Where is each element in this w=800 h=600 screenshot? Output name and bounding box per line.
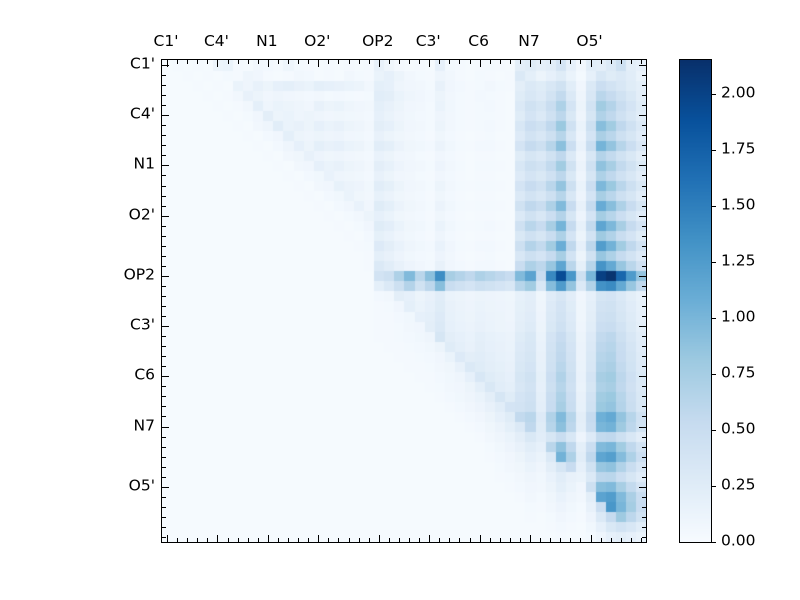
x-tick-top bbox=[540, 60, 541, 64]
colorbar-tick bbox=[711, 150, 716, 151]
y-tick-left bbox=[162, 396, 166, 397]
x-tick-top bbox=[530, 60, 531, 67]
y-tick-left bbox=[162, 125, 166, 126]
y-tick-left bbox=[162, 266, 166, 267]
x-tick-bottom bbox=[470, 538, 471, 542]
x-tick-top bbox=[268, 60, 269, 67]
y-tick-right bbox=[642, 75, 646, 76]
x-tick-label: C1' bbox=[154, 34, 179, 50]
x-tick-bottom bbox=[187, 538, 188, 542]
x-tick-bottom bbox=[197, 538, 198, 542]
y-tick-right bbox=[642, 437, 646, 438]
x-tick-top bbox=[520, 60, 521, 64]
y-tick-left bbox=[162, 447, 166, 448]
x-tick-bottom bbox=[550, 538, 551, 542]
x-tick-top bbox=[449, 60, 450, 64]
colorbar-tick-label: 1.00 bbox=[721, 309, 756, 325]
colorbar-tick-label: 0.25 bbox=[721, 477, 756, 493]
y-tick-left bbox=[162, 256, 166, 257]
y-tick-left bbox=[162, 467, 166, 468]
colorbar-tick-label: 1.25 bbox=[721, 253, 756, 269]
y-tick-left bbox=[162, 427, 169, 428]
colorbar-tick bbox=[711, 262, 716, 263]
colorbar-tick bbox=[711, 430, 716, 431]
y-tick-left bbox=[162, 356, 166, 357]
y-tick-right bbox=[642, 366, 646, 367]
y-tick-label: O2' bbox=[129, 207, 155, 223]
x-tick-top bbox=[621, 60, 622, 64]
x-tick-top bbox=[419, 60, 420, 64]
y-tick-left bbox=[162, 376, 169, 377]
y-tick-left bbox=[162, 316, 166, 317]
figure-canvas: C1'C4'N1O2'OP2C3'C6N7O5' C1'C4'N1O2'OP2C… bbox=[0, 0, 800, 600]
x-tick-bottom bbox=[520, 538, 521, 542]
x-tick-bottom bbox=[349, 538, 350, 542]
x-tick-top bbox=[399, 60, 400, 64]
y-tick-left bbox=[162, 527, 166, 528]
x-tick-bottom bbox=[328, 538, 329, 542]
x-tick-top bbox=[187, 60, 188, 64]
colorbar-tick bbox=[711, 206, 716, 207]
x-tick-bottom bbox=[540, 538, 541, 542]
x-tick-top bbox=[349, 60, 350, 64]
y-tick-left bbox=[162, 75, 166, 76]
x-tick-bottom bbox=[278, 538, 279, 542]
y-tick-left bbox=[162, 336, 166, 337]
y-tick-left bbox=[162, 276, 169, 277]
heatmap-axes bbox=[161, 59, 647, 543]
x-tick-bottom bbox=[591, 535, 592, 542]
x-tick-top bbox=[641, 60, 642, 64]
x-tick-top bbox=[338, 60, 339, 64]
x-tick-bottom bbox=[369, 538, 370, 542]
x-tick-bottom bbox=[560, 538, 561, 542]
x-tick-top bbox=[369, 60, 370, 64]
x-tick-bottom bbox=[177, 538, 178, 542]
x-tick-top bbox=[379, 60, 380, 67]
x-tick-bottom bbox=[510, 538, 511, 542]
x-tick-top bbox=[197, 60, 198, 64]
y-tick-right bbox=[642, 527, 646, 528]
x-tick-label: C6 bbox=[468, 34, 489, 50]
colorbar-tick-label: 0.00 bbox=[721, 533, 756, 549]
x-tick-bottom bbox=[207, 538, 208, 542]
colorbar bbox=[679, 59, 712, 543]
y-tick-label: OP2 bbox=[124, 267, 155, 283]
y-tick-right bbox=[639, 326, 646, 327]
y-tick-right bbox=[642, 306, 646, 307]
x-tick-top bbox=[470, 60, 471, 64]
x-tick-bottom bbox=[399, 538, 400, 542]
y-tick-left bbox=[162, 65, 169, 66]
y-tick-right bbox=[642, 246, 646, 247]
y-tick-label: C4' bbox=[130, 106, 155, 122]
x-tick-bottom bbox=[621, 538, 622, 542]
x-tick-top bbox=[177, 60, 178, 64]
x-tick-top bbox=[490, 60, 491, 64]
y-tick-right bbox=[642, 125, 646, 126]
x-tick-bottom bbox=[601, 538, 602, 542]
x-tick-bottom bbox=[308, 538, 309, 542]
x-tick-bottom bbox=[580, 538, 581, 542]
y-tick-left bbox=[162, 135, 166, 136]
y-tick-right bbox=[642, 175, 646, 176]
y-tick-right bbox=[639, 65, 646, 66]
x-tick-bottom bbox=[318, 535, 319, 542]
x-tick-top bbox=[550, 60, 551, 64]
colorbar-tick bbox=[711, 318, 716, 319]
x-tick-top bbox=[591, 60, 592, 67]
y-tick-right bbox=[639, 276, 646, 277]
x-tick-bottom bbox=[449, 538, 450, 542]
x-tick-bottom bbox=[530, 535, 531, 542]
x-tick-bottom bbox=[359, 538, 360, 542]
x-tick-top bbox=[228, 60, 229, 64]
y-tick-left bbox=[162, 196, 166, 197]
y-tick-left bbox=[162, 206, 166, 207]
x-tick-top bbox=[560, 60, 561, 64]
y-tick-right bbox=[642, 316, 646, 317]
x-tick-bottom bbox=[631, 538, 632, 542]
y-tick-left bbox=[162, 165, 169, 166]
x-tick-top bbox=[570, 60, 571, 64]
y-tick-left bbox=[162, 145, 166, 146]
x-tick-top bbox=[480, 60, 481, 67]
x-tick-bottom bbox=[500, 538, 501, 542]
y-tick-left bbox=[162, 477, 166, 478]
y-tick-right bbox=[642, 507, 646, 508]
x-tick-top bbox=[278, 60, 279, 64]
y-tick-left bbox=[162, 216, 169, 217]
y-tick-right bbox=[642, 95, 646, 96]
y-tick-right bbox=[642, 457, 646, 458]
y-tick-left bbox=[162, 155, 166, 156]
x-tick-top bbox=[631, 60, 632, 64]
y-tick-label: N1 bbox=[134, 157, 155, 173]
x-tick-bottom bbox=[611, 538, 612, 542]
x-tick-top bbox=[439, 60, 440, 64]
y-tick-left bbox=[162, 366, 166, 367]
y-tick-right bbox=[642, 537, 646, 538]
x-tick-bottom bbox=[480, 535, 481, 542]
y-tick-left bbox=[162, 487, 169, 488]
y-tick-right bbox=[639, 115, 646, 116]
x-tick-bottom bbox=[288, 538, 289, 542]
y-tick-label: O5' bbox=[129, 478, 155, 494]
y-tick-left bbox=[162, 306, 166, 307]
y-tick-left bbox=[162, 186, 166, 187]
y-tick-left bbox=[162, 416, 166, 417]
y-tick-right bbox=[642, 186, 646, 187]
y-tick-left bbox=[162, 246, 166, 247]
y-tick-left bbox=[162, 226, 166, 227]
y-tick-right bbox=[642, 447, 646, 448]
y-tick-left bbox=[162, 537, 166, 538]
heatmap-image bbox=[162, 60, 646, 542]
y-tick-left bbox=[162, 386, 166, 387]
x-tick-bottom bbox=[228, 538, 229, 542]
y-tick-left bbox=[162, 497, 166, 498]
y-tick-right bbox=[642, 155, 646, 156]
x-tick-bottom bbox=[338, 538, 339, 542]
x-tick-top bbox=[409, 60, 410, 64]
x-tick-bottom bbox=[298, 538, 299, 542]
y-tick-right bbox=[642, 145, 646, 146]
x-tick-bottom bbox=[429, 535, 430, 542]
y-tick-label: C1' bbox=[130, 56, 155, 72]
x-tick-top bbox=[318, 60, 319, 67]
x-tick-top bbox=[217, 60, 218, 67]
y-tick-left bbox=[162, 507, 166, 508]
x-tick-bottom bbox=[641, 538, 642, 542]
colorbar-tick bbox=[711, 94, 716, 95]
colorbar-tick bbox=[711, 542, 716, 543]
colorbar-tick-label: 1.50 bbox=[721, 197, 756, 213]
x-tick-top bbox=[500, 60, 501, 64]
y-tick-right bbox=[642, 386, 646, 387]
x-tick-top bbox=[288, 60, 289, 64]
x-tick-top bbox=[238, 60, 239, 64]
x-tick-top bbox=[601, 60, 602, 64]
x-tick-top bbox=[429, 60, 430, 67]
y-tick-right bbox=[642, 206, 646, 207]
x-tick-bottom bbox=[248, 538, 249, 542]
x-tick-top bbox=[359, 60, 360, 64]
colorbar-gradient bbox=[680, 60, 711, 542]
y-tick-right bbox=[642, 336, 646, 337]
x-tick-label: O5' bbox=[576, 34, 602, 50]
y-tick-right bbox=[639, 376, 646, 377]
x-tick-top bbox=[298, 60, 299, 64]
x-tick-label: C4' bbox=[204, 34, 229, 50]
y-tick-left bbox=[162, 437, 166, 438]
x-tick-bottom bbox=[459, 538, 460, 542]
x-tick-top bbox=[248, 60, 249, 64]
x-tick-bottom bbox=[419, 538, 420, 542]
x-tick-top bbox=[328, 60, 329, 64]
x-tick-top bbox=[308, 60, 309, 64]
x-tick-label: OP2 bbox=[362, 34, 393, 50]
y-tick-label: C6 bbox=[134, 368, 155, 384]
y-tick-left bbox=[162, 85, 166, 86]
y-tick-left bbox=[162, 115, 169, 116]
y-tick-right bbox=[642, 346, 646, 347]
x-tick-top bbox=[459, 60, 460, 64]
y-tick-right bbox=[642, 467, 646, 468]
x-tick-bottom bbox=[409, 538, 410, 542]
y-tick-left bbox=[162, 286, 166, 287]
y-tick-right bbox=[642, 236, 646, 237]
x-tick-top bbox=[611, 60, 612, 64]
y-tick-right bbox=[642, 105, 646, 106]
y-tick-right bbox=[642, 226, 646, 227]
colorbar-tick bbox=[711, 486, 716, 487]
x-tick-bottom bbox=[167, 535, 168, 542]
y-tick-left bbox=[162, 517, 166, 518]
y-tick-right bbox=[639, 165, 646, 166]
y-tick-left bbox=[162, 457, 166, 458]
y-tick-right bbox=[642, 135, 646, 136]
y-tick-right bbox=[642, 406, 646, 407]
x-tick-top bbox=[580, 60, 581, 64]
x-tick-bottom bbox=[570, 538, 571, 542]
x-tick-top bbox=[510, 60, 511, 64]
y-tick-left bbox=[162, 236, 166, 237]
y-tick-right bbox=[642, 517, 646, 518]
colorbar-tick-label: 0.50 bbox=[721, 421, 756, 437]
x-tick-bottom bbox=[389, 538, 390, 542]
y-tick-left bbox=[162, 326, 169, 327]
y-tick-right bbox=[642, 396, 646, 397]
colorbar-tick-label: 2.00 bbox=[721, 85, 756, 101]
y-tick-right bbox=[642, 85, 646, 86]
colorbar-tick bbox=[711, 374, 716, 375]
y-tick-right bbox=[642, 356, 646, 357]
y-tick-left bbox=[162, 175, 166, 176]
y-tick-right bbox=[639, 487, 646, 488]
x-tick-label: O2' bbox=[304, 34, 330, 50]
colorbar-tick-label: 0.75 bbox=[721, 365, 756, 381]
x-tick-bottom bbox=[217, 535, 218, 542]
x-tick-bottom bbox=[490, 538, 491, 542]
x-tick-bottom bbox=[379, 535, 380, 542]
y-tick-right bbox=[642, 497, 646, 498]
y-tick-left bbox=[162, 346, 166, 347]
y-tick-right bbox=[639, 427, 646, 428]
y-tick-right bbox=[642, 256, 646, 257]
y-tick-right bbox=[642, 266, 646, 267]
x-tick-bottom bbox=[258, 538, 259, 542]
y-tick-right bbox=[639, 216, 646, 217]
x-tick-bottom bbox=[268, 535, 269, 542]
y-tick-label: C3' bbox=[130, 317, 155, 333]
colorbar-tick-label: 1.75 bbox=[721, 141, 756, 157]
y-tick-left bbox=[162, 95, 166, 96]
x-tick-top bbox=[258, 60, 259, 64]
x-tick-top bbox=[389, 60, 390, 64]
y-tick-left bbox=[162, 406, 166, 407]
y-tick-right bbox=[642, 416, 646, 417]
x-tick-bottom bbox=[238, 538, 239, 542]
y-tick-right bbox=[642, 296, 646, 297]
y-tick-right bbox=[642, 196, 646, 197]
y-tick-label: N7 bbox=[134, 418, 155, 434]
x-tick-label: N7 bbox=[518, 34, 539, 50]
y-tick-left bbox=[162, 105, 166, 106]
y-tick-left bbox=[162, 296, 166, 297]
y-tick-right bbox=[642, 286, 646, 287]
x-tick-top bbox=[207, 60, 208, 64]
y-tick-right bbox=[642, 477, 646, 478]
x-tick-bottom bbox=[439, 538, 440, 542]
x-tick-label: N1 bbox=[256, 34, 277, 50]
x-tick-label: C3' bbox=[416, 34, 441, 50]
